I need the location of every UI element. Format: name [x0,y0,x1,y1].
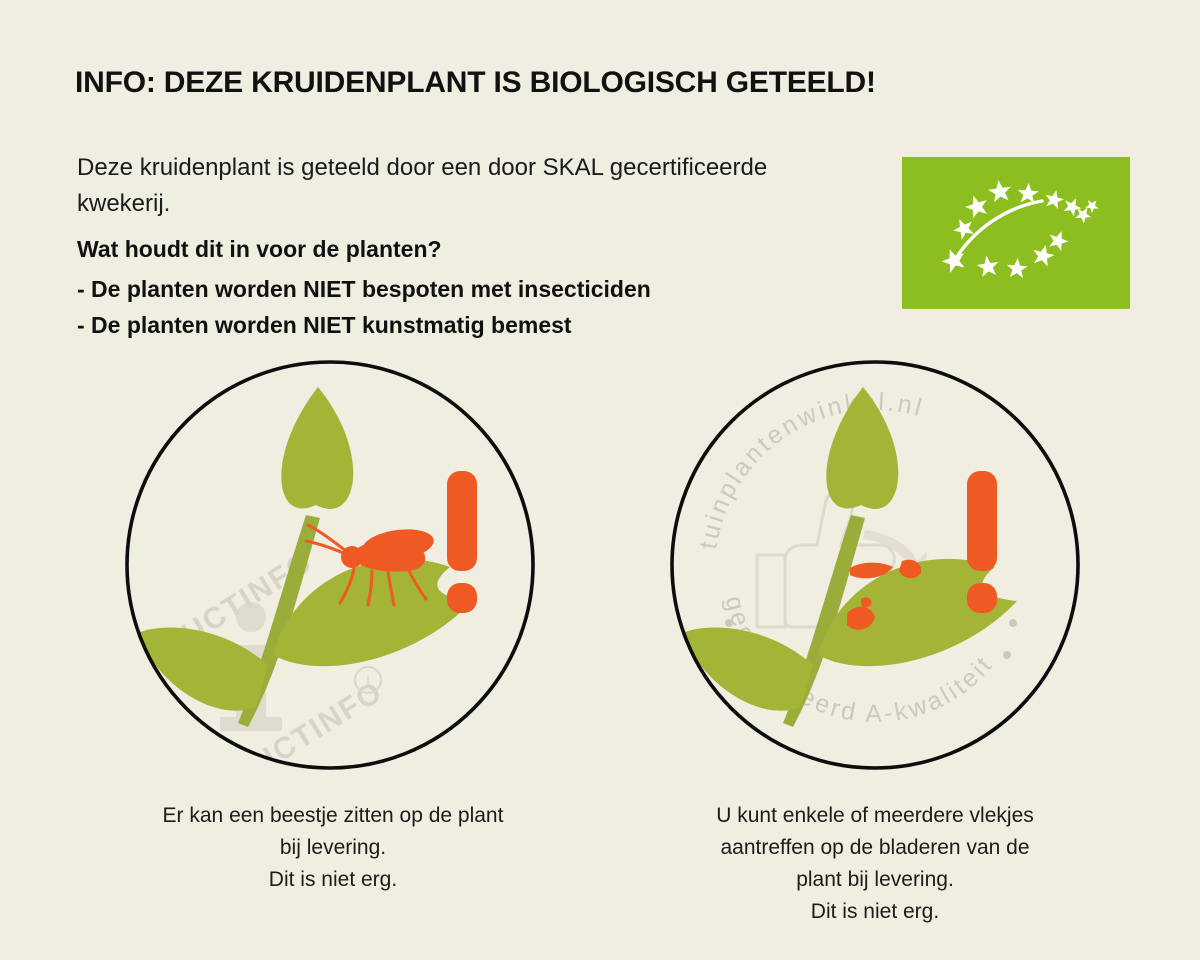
eu-organic-logo [902,157,1130,309]
illustration-right: tuinplantenwinkel.nl gegarandeerd A-kwal… [665,355,1085,775]
svg-text:i: i [136,691,140,708]
bullet-item-1: - De planten worden NIET bespoten met in… [77,271,897,307]
page-title: INFO: DEZE KRUIDENPLANT IS BIOLOGISCH GE… [75,66,895,99]
euro-leaf-stars [939,179,1102,279]
caption-left-line-1: Er kan een beestje zitten op de plant [113,800,553,832]
svg-text:i: i [366,673,370,690]
svg-text:i: i [136,726,140,743]
question-heading: Wat houdt dit in voor de planten? [77,232,897,266]
intro-line-1: Deze kruidenplant is geteeld door een do… [77,150,877,186]
svg-text:i: i [136,656,140,673]
caption-left-line-3: Dit is niet erg. [113,864,553,896]
caption-right-line-2: aantreffen op de bladeren van de [655,832,1095,864]
intro-line-2: kwekerij. [77,186,877,222]
caption-right-line-1: U kunt enkele of meerdere vlekjes [655,800,1095,832]
exclamation-mark-icon [967,471,997,613]
caption-right-line-4: Dit is niet erg. [655,896,1095,928]
bullet-item-2: - De planten worden NIET kunstmatig beme… [77,307,897,343]
question-block: Wat houdt dit in voor de planten? - De p… [77,232,897,343]
caption-left-line-2: bij levering. [113,832,553,864]
caption-right: U kunt enkele of meerdere vlekjes aantre… [655,800,1095,928]
caption-left: Er kan een beestje zitten op de plant bi… [113,800,553,896]
intro-paragraph: Deze kruidenplant is geteeld door een do… [77,150,877,222]
header: INFO: DEZE KRUIDENPLANT IS BIOLOGISCH GE… [75,66,895,99]
exclamation-mark-icon [447,471,477,613]
illustration-left: PRODUCTINFO PRODUCTINFO PRODUCTINFO ii i… [120,355,540,775]
info-sheet-page: INFO: DEZE KRUIDENPLANT IS BIOLOGISCH GE… [0,0,1200,960]
caption-right-line-3: plant bij levering. [655,864,1095,896]
